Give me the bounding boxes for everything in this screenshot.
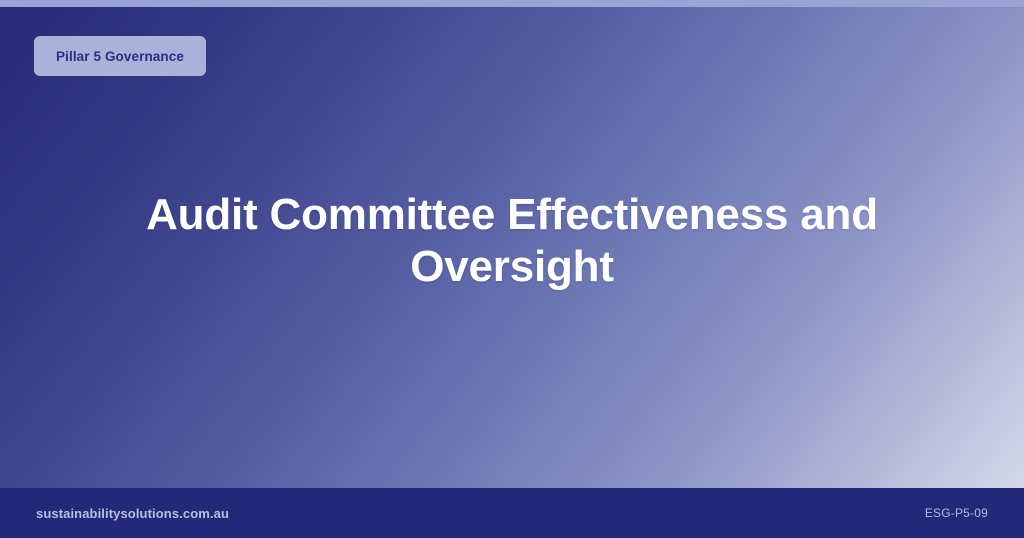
presentation-slide: Pillar 5 Governance Audit Committee Effe… (0, 0, 1024, 538)
slide-title: Audit Committee Effectiveness and Oversi… (47, 189, 977, 291)
title-container: Audit Committee Effectiveness and Oversi… (0, 0, 1024, 481)
footer-website: sustainabilitysolutions.com.au (36, 506, 229, 521)
footer-slide-code: ESG-P5-09 (925, 506, 988, 520)
slide-footer: sustainabilitysolutions.com.au ESG-P5-09 (0, 488, 1024, 538)
